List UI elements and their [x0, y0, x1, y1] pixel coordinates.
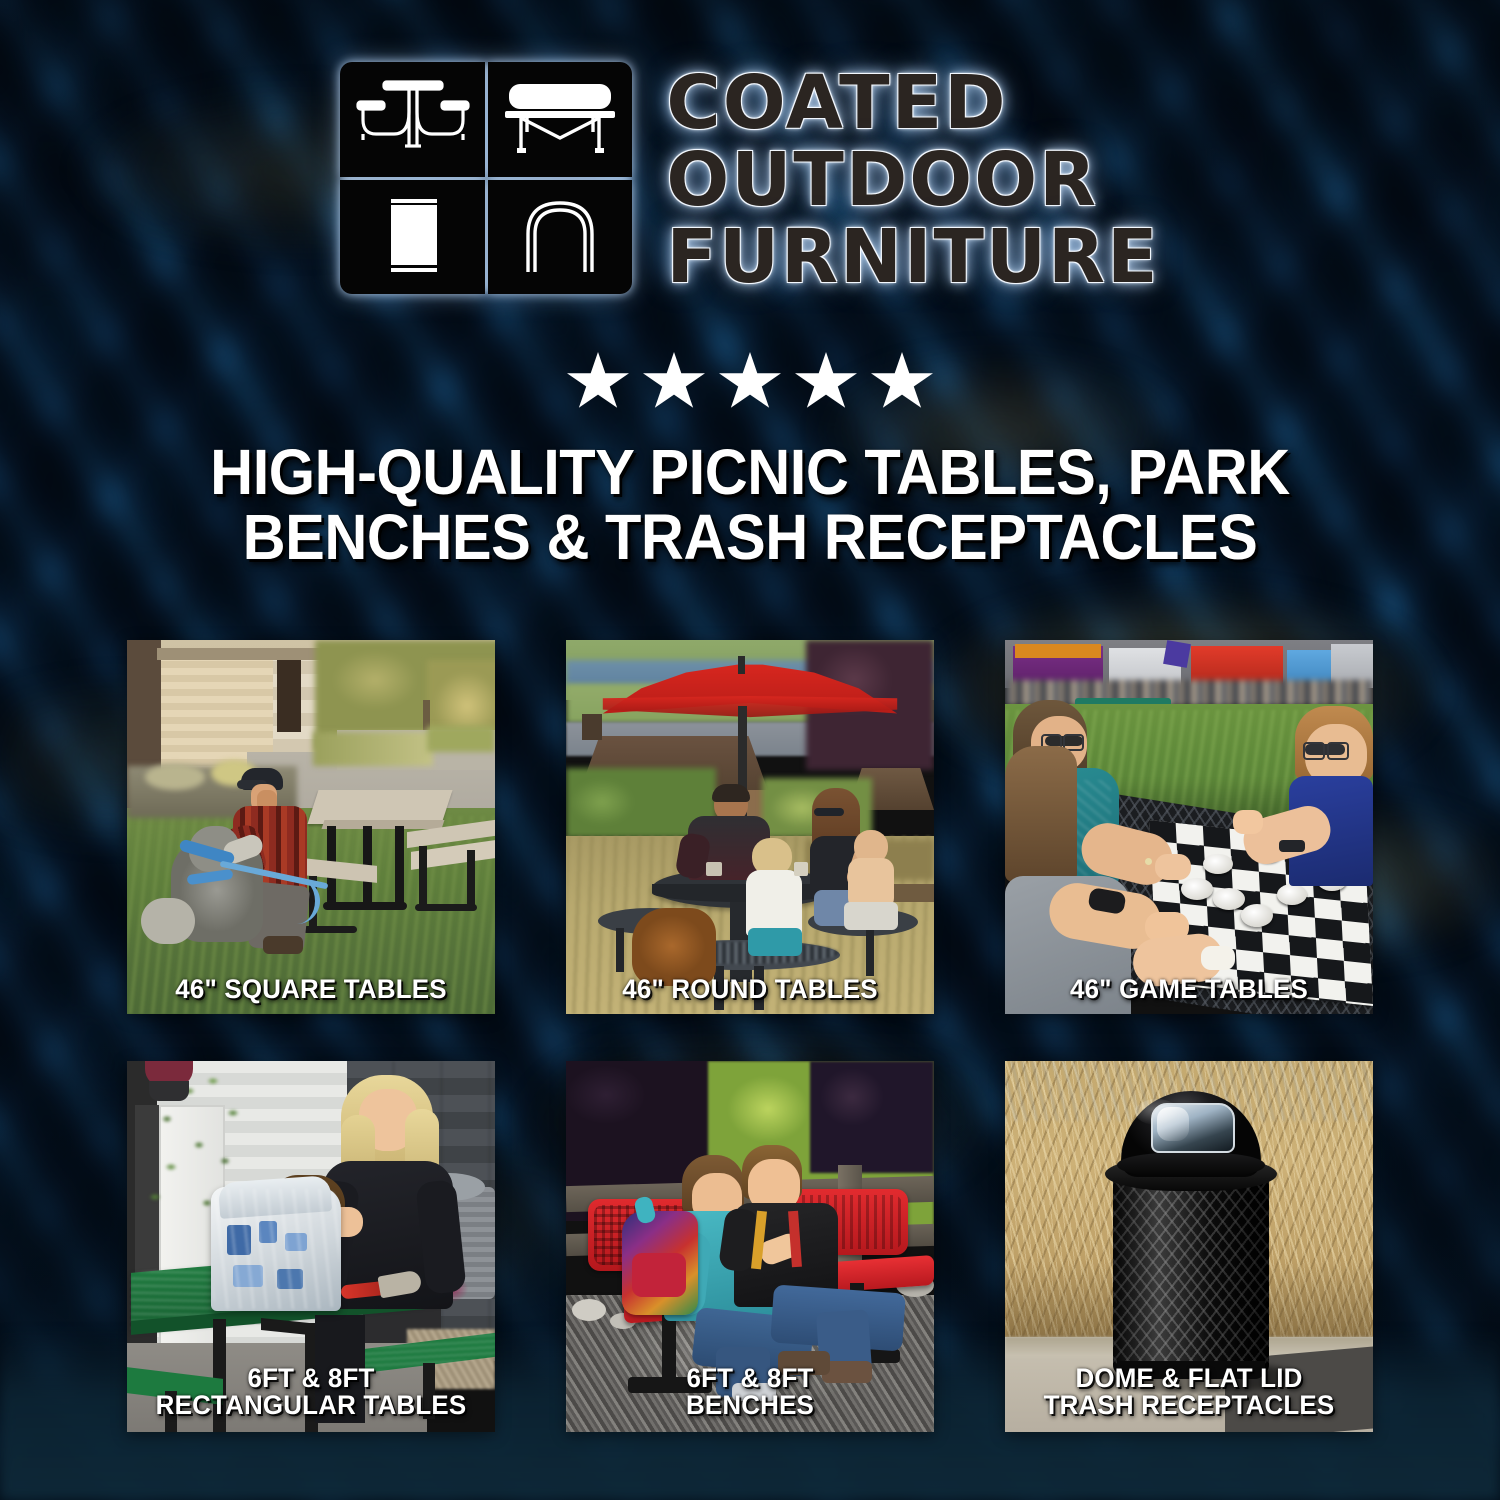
headline-line-2: BENCHES & TRASH RECEPTACLES: [118, 505, 1383, 570]
photo-game-tables: [1005, 640, 1373, 1014]
trash-receptacle-icon: [340, 180, 485, 295]
caption-line-2: RECTANGULAR TABLES: [142, 1392, 480, 1420]
product-caption: 6FT & 8FT RECTANGULAR TABLES: [134, 1365, 487, 1420]
photo-round-tables: [566, 640, 934, 1014]
product-tile-round-tables[interactable]: 46" ROUND TABLES: [566, 640, 934, 1014]
star-icon: [719, 352, 781, 412]
product-tile-game-tables[interactable]: 46" GAME TABLES: [1005, 640, 1373, 1014]
star-icon: [567, 352, 629, 412]
caption-line-1: 46" ROUND TABLES: [622, 974, 877, 1004]
caption-line-1: 46" GAME TABLES: [1070, 974, 1308, 1004]
star-icon: [871, 352, 933, 412]
caption-line-2: BENCHES: [581, 1392, 919, 1420]
photo-square-tables: [127, 640, 495, 1014]
brand-logo: COATED OUTDOOR FURNITURE: [0, 62, 1500, 294]
product-grid: 46" SQUARE TABLES: [127, 640, 1373, 1432]
poster: COATED OUTDOOR FURNITURE HIGH-QUALITY PI…: [0, 0, 1500, 1500]
star-icon: [795, 352, 857, 412]
product-caption: 46" GAME TABLES: [1012, 976, 1365, 1004]
logo-wordmark: COATED OUTDOOR FURNITURE: [666, 62, 1159, 293]
star-rating: [0, 352, 1500, 412]
logo-word-outdoor: OUTDOOR: [666, 145, 1159, 216]
caption-line-2: TRASH RECEPTACLES: [1020, 1392, 1358, 1420]
logo-word-coated: COATED: [666, 68, 1159, 139]
product-tile-square-tables[interactable]: 46" SQUARE TABLES: [127, 640, 495, 1014]
arch-bike-rack-icon: [488, 180, 633, 295]
product-caption: 46" SQUARE TABLES: [134, 976, 487, 1004]
product-caption: DOME & FLAT LID TRASH RECEPTACLES: [1012, 1365, 1365, 1420]
product-caption: 46" ROUND TABLES: [573, 976, 926, 1004]
product-tile-trash-receptacles[interactable]: DOME & FLAT LID TRASH RECEPTACLES: [1005, 1061, 1373, 1432]
product-tile-benches[interactable]: 6FT & 8FT BENCHES: [566, 1061, 934, 1432]
product-caption: 6FT & 8FT BENCHES: [573, 1365, 926, 1420]
caption-line-1: 46" SQUARE TABLES: [175, 974, 446, 1004]
picnic-table-icon: [340, 62, 485, 177]
park-bench-icon: [488, 62, 633, 177]
caption-line-1: 6FT & 8FT: [686, 1363, 813, 1393]
caption-line-1: 6FT & 8FT: [247, 1363, 374, 1393]
star-icon: [643, 352, 705, 412]
logo-mark: [340, 62, 632, 294]
page-title: HIGH-QUALITY PICNIC TABLES, PARK BENCHES…: [53, 440, 1448, 571]
caption-line-1: DOME & FLAT LID: [1075, 1363, 1302, 1393]
product-tile-rectangular-tables[interactable]: 6FT & 8FT RECTANGULAR TABLES: [127, 1061, 495, 1432]
headline-line-1: HIGH-QUALITY PICNIC TABLES, PARK: [210, 436, 1290, 508]
logo-word-furniture: FURNITURE: [666, 222, 1159, 293]
